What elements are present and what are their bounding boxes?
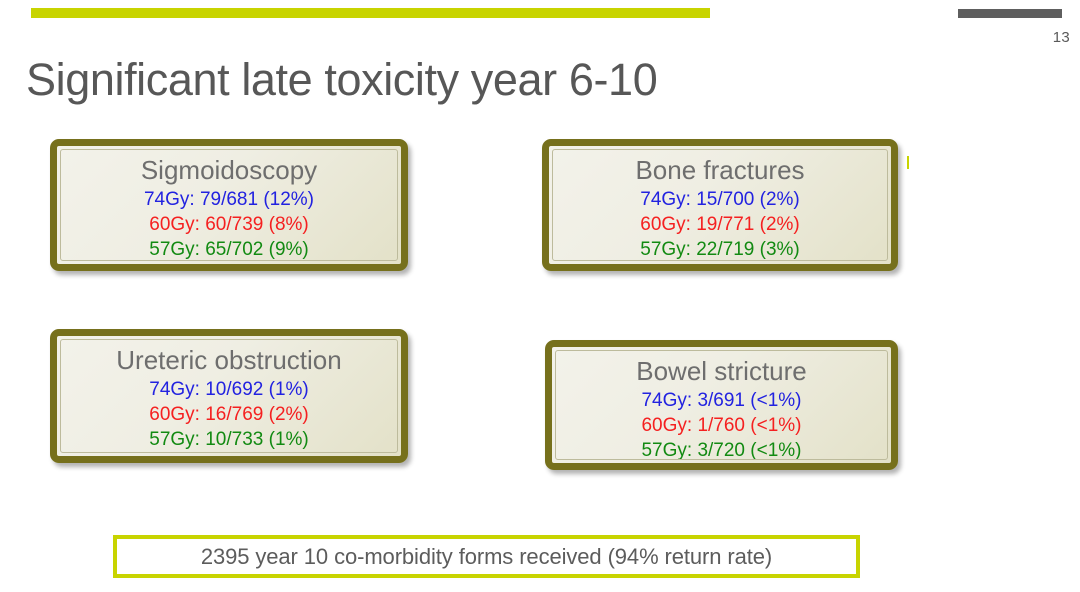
page-marker-bar (958, 9, 1062, 18)
box-title: Bone fractures (555, 154, 885, 187)
title-accent-bar (31, 8, 710, 18)
page-number: 13 (1034, 29, 1070, 46)
return-rate-banner: 2395 year 10 co-morbidity forms received… (113, 535, 860, 578)
box-title: Bowel stricture (558, 355, 885, 388)
box-title: Sigmoidoscopy (63, 154, 395, 187)
stat-line-57gy: 57Gy: 65/702 (9%) (63, 237, 395, 262)
stat-line-60gy: 60Gy: 60/739 (8%) (63, 212, 395, 237)
stat-line-60gy: 60Gy: 16/769 (2%) (63, 402, 395, 427)
slide-title: Significant late toxicity year 6-10 (26, 51, 946, 109)
toxicity-box-bone-fractures: Bone fractures 74Gy: 15/700 (2%) 60Gy: 1… (542, 139, 898, 271)
stat-line-57gy: 57Gy: 10/733 (1%) (63, 427, 395, 452)
stat-line-74gy: 74Gy: 79/681 (12%) (63, 187, 395, 212)
stat-line-57gy: 57Gy: 22/719 (3%) (555, 237, 885, 262)
stat-line-74gy: 74Gy: 15/700 (2%) (555, 187, 885, 212)
return-rate-text: 2395 year 10 co-morbidity forms received… (201, 544, 772, 570)
toxicity-box-sigmoidoscopy: Sigmoidoscopy 74Gy: 79/681 (12%) 60Gy: 6… (50, 139, 408, 271)
box-title: Ureteric obstruction (63, 344, 395, 377)
stat-line-60gy: 60Gy: 19/771 (2%) (555, 212, 885, 237)
stat-line-74gy: 74Gy: 3/691 (<1%) (558, 388, 885, 413)
stat-line-57gy: 57Gy: 3/720 (<1%) (558, 438, 885, 463)
stat-line-74gy: 74Gy: 10/692 (1%) (63, 377, 395, 402)
stray-accent-tick (907, 156, 909, 169)
stat-line-60gy: 60Gy: 1/760 (<1%) (558, 413, 885, 438)
toxicity-box-ureteric-obstruction: Ureteric obstruction 74Gy: 10/692 (1%) 6… (50, 329, 408, 463)
toxicity-box-bowel-stricture: Bowel stricture 74Gy: 3/691 (<1%) 60Gy: … (545, 340, 898, 470)
